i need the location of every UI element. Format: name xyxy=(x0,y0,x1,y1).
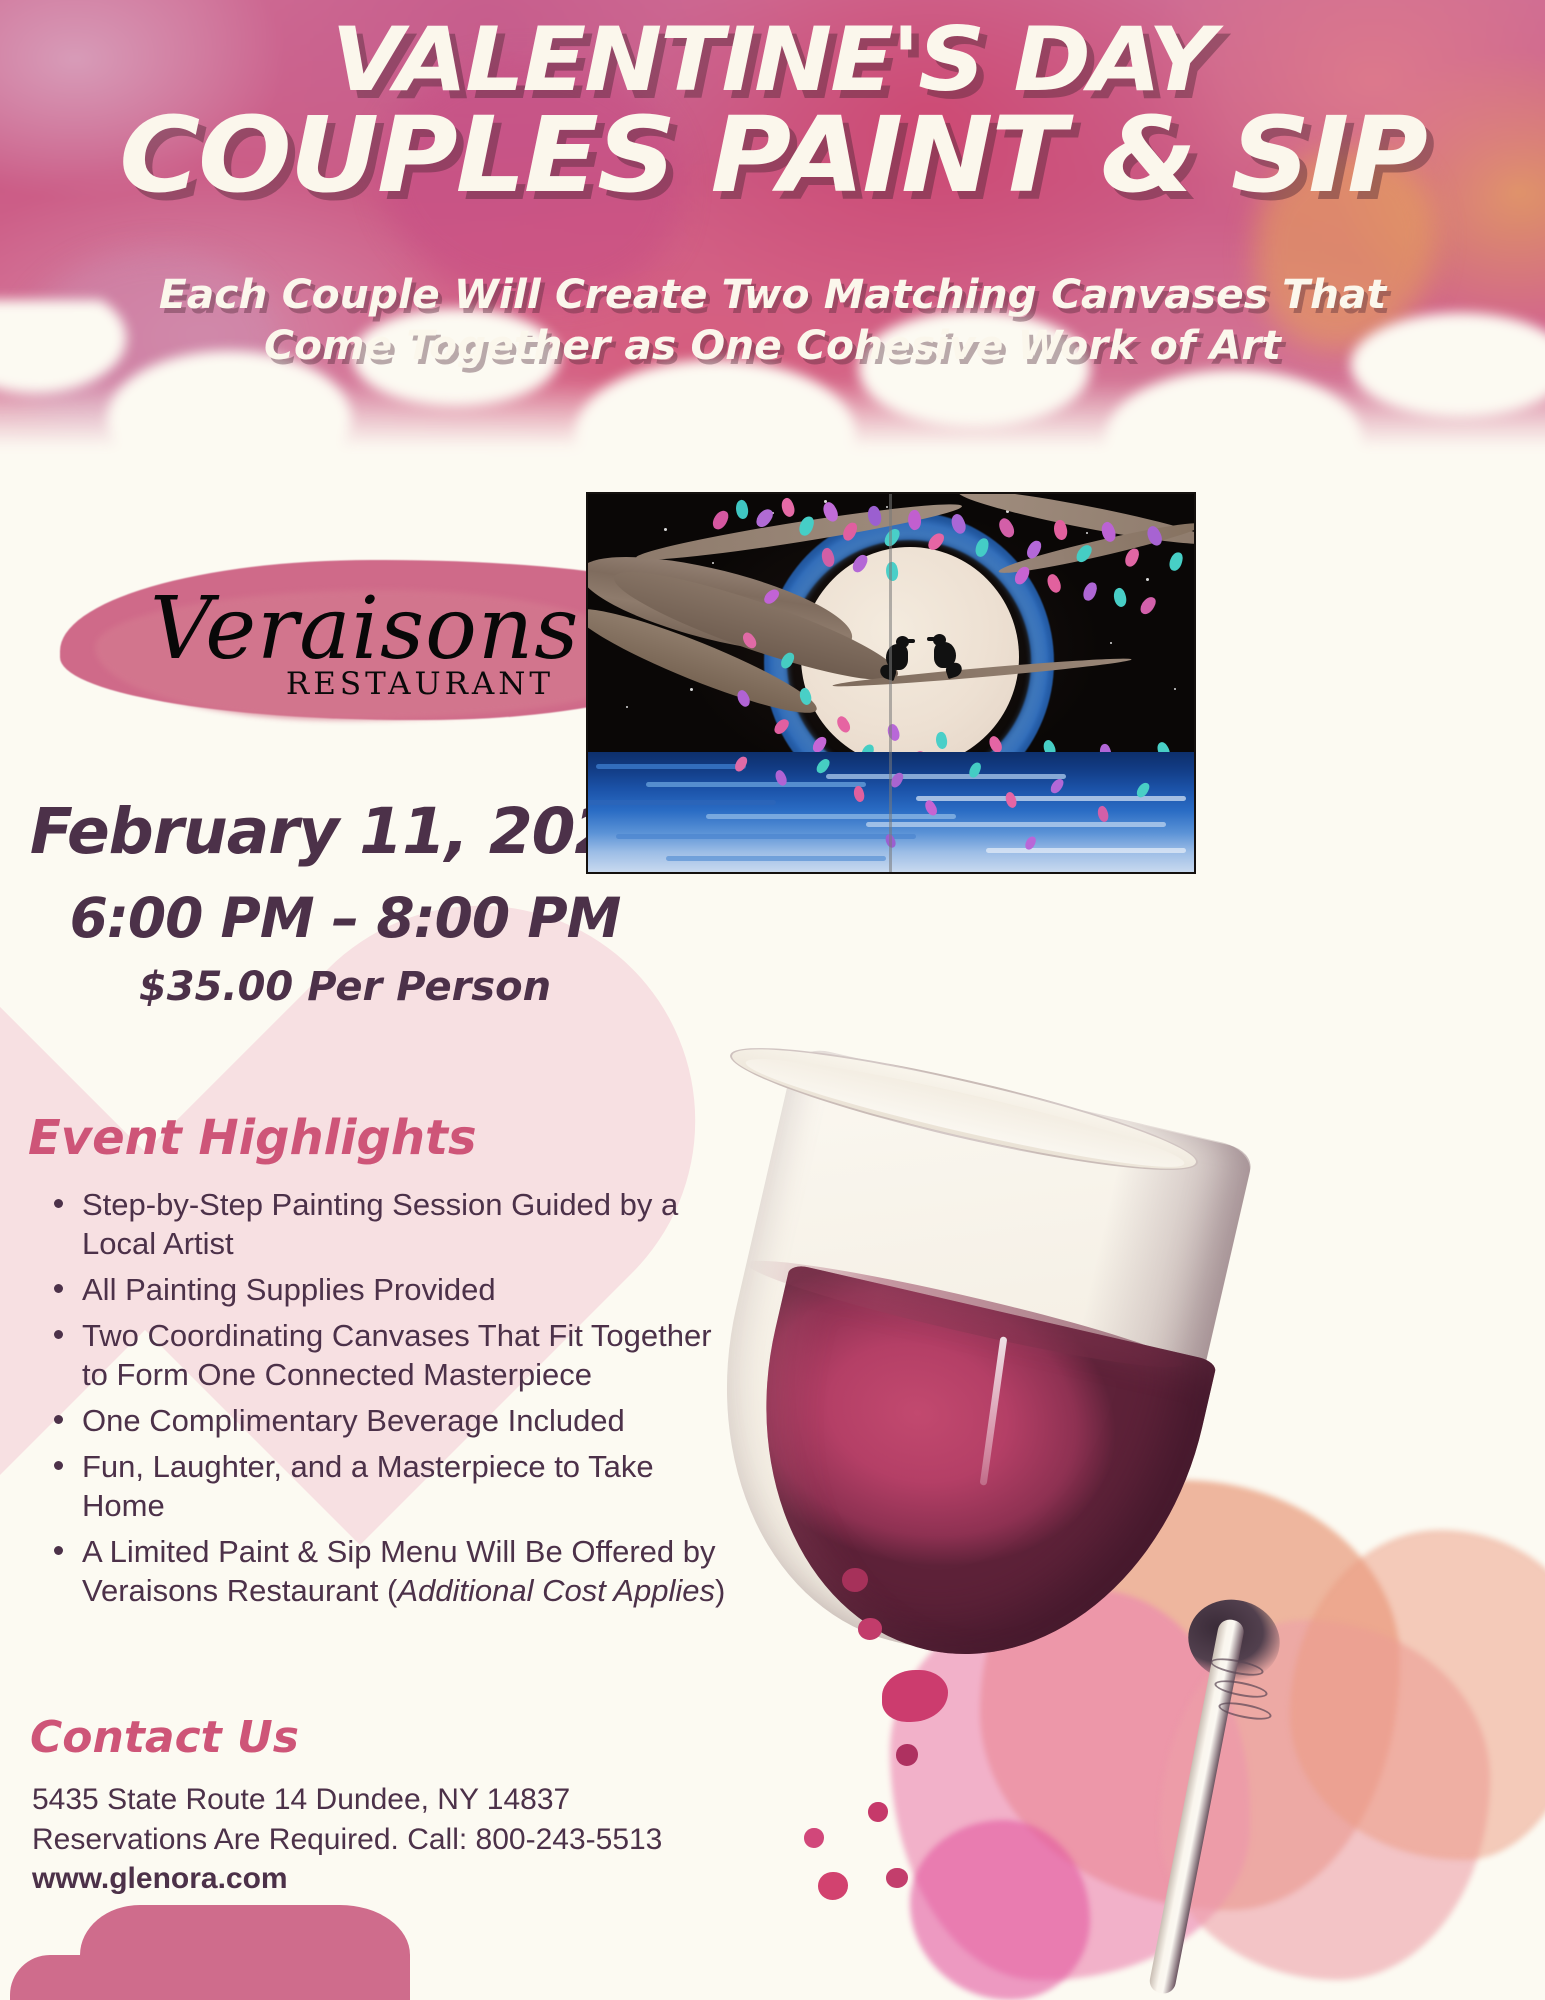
wine-glass xyxy=(690,1060,1545,2000)
contact-details: 5435 State Route 14 Dundee, NY 14837 Res… xyxy=(32,1780,662,1899)
bottom-pink-brushstroke-tail xyxy=(10,1955,260,2000)
list-item-menu-note: A Limited Paint & Sip Menu Will Be Offer… xyxy=(38,1532,738,1610)
event-highlights-list: Step-by-Step Painting Session Guided by … xyxy=(38,1185,738,1617)
flyer-canvas: VALENTINE'S DAY COUPLES PAINT & SIP Each… xyxy=(0,0,1545,2000)
bird-right xyxy=(934,642,956,668)
contact-website[interactable]: www.glenora.com xyxy=(32,1859,662,1899)
canvas-panel-seam xyxy=(889,492,892,874)
menu-note-italic: Additional Cost Applies xyxy=(397,1573,715,1608)
wine-droplet xyxy=(858,1618,882,1640)
title-line-1: VALENTINE'S DAY xyxy=(0,18,1545,102)
wine-droplet xyxy=(818,1872,848,1900)
list-item: Two Coordinating Canvases That Fit Toget… xyxy=(38,1316,738,1394)
subtitle-line-1: Each Couple Will Create Two Matching Can… xyxy=(0,270,1545,321)
veraisons-logo: Veraisons RESTAURANT xyxy=(150,586,570,702)
event-highlights-heading: Event Highlights xyxy=(28,1110,477,1166)
logo-wordmark: Veraisons xyxy=(150,586,570,672)
menu-note-suffix: ) xyxy=(715,1573,725,1608)
event-price: $35.00 Per Person xyxy=(0,964,690,1010)
wine-droplet xyxy=(804,1828,824,1848)
wine-droplet xyxy=(886,1868,908,1888)
artwork-preview-image xyxy=(586,492,1196,874)
wine-droplet xyxy=(868,1802,888,1822)
list-item: One Complimentary Beverage Included xyxy=(38,1401,738,1440)
wine-glass-illustration xyxy=(690,1060,1545,2000)
contact-address: 5435 State Route 14 Dundee, NY 14837 xyxy=(32,1780,662,1820)
contact-reservations: Reservations Are Required. Call: 800-243… xyxy=(32,1820,662,1860)
wine-droplet xyxy=(896,1744,918,1766)
glass-stem xyxy=(1148,1618,1246,1996)
wine-droplet xyxy=(842,1568,868,1592)
event-time: 6:00 PM – 8:00 PM xyxy=(0,886,690,950)
list-item: Fun, Laughter, and a Masterpiece to Take… xyxy=(38,1447,738,1525)
list-item: All Painting Supplies Provided xyxy=(38,1270,738,1309)
subtitle-line-2: Come Together as One Cohesive Work of Ar… xyxy=(0,321,1545,372)
subtitle: Each Couple Will Create Two Matching Can… xyxy=(0,270,1545,372)
list-item: Step-by-Step Painting Session Guided by … xyxy=(38,1185,738,1263)
contact-heading: Contact Us xyxy=(30,1712,299,1763)
page-title: VALENTINE'S DAY COUPLES PAINT & SIP xyxy=(0,18,1545,204)
title-line-2: COUPLES PAINT & SIP xyxy=(0,106,1545,205)
